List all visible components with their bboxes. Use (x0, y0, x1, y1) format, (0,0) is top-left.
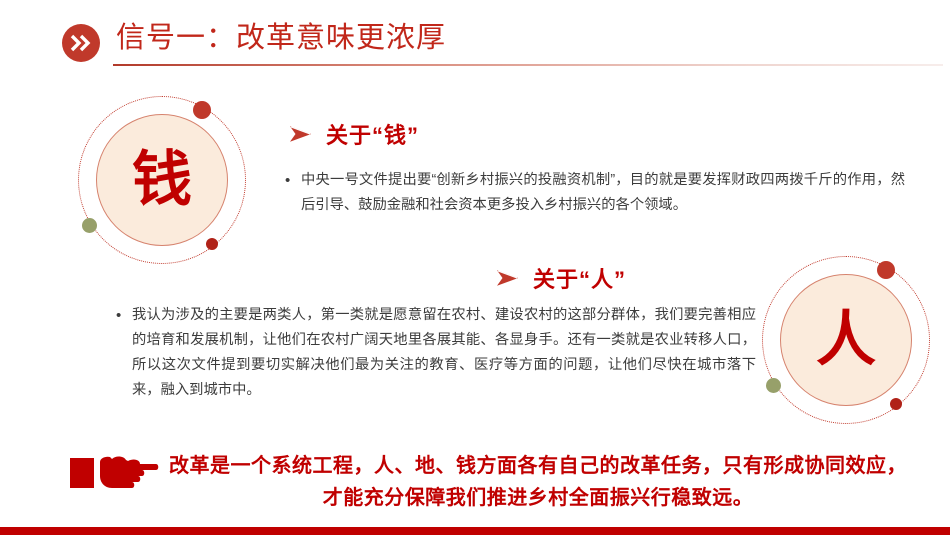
body-paragraph: 中央一号文件提出要“创新乡村振兴的投融资机制”，目的就是要发挥财政四两拨千斤的作… (301, 168, 905, 218)
page-title: 信号一：改革意味更浓厚 (116, 18, 446, 58)
circle-graphic-money: 钱 (78, 96, 246, 264)
accent-dot-red-large (877, 261, 895, 279)
circle-label-people: 人 (816, 310, 876, 370)
double-chevron-right-icon (62, 24, 100, 62)
bottom-accent-bar (0, 527, 950, 535)
accent-dot-darkred-small (890, 398, 902, 410)
circle-disc: 人 (780, 274, 912, 406)
slide-canvas: 信号一：改革意味更浓厚 钱 关于“钱” • 中央一号文件提出要“创新乡村振兴的投… (0, 0, 950, 535)
slide-header: 信号一：改革意味更浓厚 (0, 0, 950, 78)
section-heading-people: 关于“人” (497, 262, 626, 294)
arrow-bullet-icon (497, 269, 519, 287)
section-body-people: • 我认为涉及的主要是两类人，第一类就是愿意留在农村、建设农村的这部分群体，我们… (116, 303, 766, 403)
accent-dot-red-large (193, 101, 211, 119)
circle-graphic-people: 人 (762, 256, 930, 424)
section-heading-text: 关于“人” (533, 262, 626, 294)
section-body-money: • 中央一号文件提出要“创新乡村振兴的投融资机制”，目的就是要发挥财政四两拨千斤… (285, 168, 915, 218)
list-bullet: • (285, 168, 301, 193)
circle-disc: 钱 (96, 114, 228, 246)
arrow-bullet-icon (290, 125, 312, 143)
pointing-hand-icon (68, 452, 160, 496)
slide-footer: 改革是一个系统工程，人、地、钱方面各有自己的改革任务，只有形成协同效应，才能充分… (0, 444, 950, 524)
accent-dot-olive (766, 378, 781, 393)
circle-label-money: 钱 (132, 150, 192, 210)
list-bullet: • (116, 303, 132, 328)
header-divider (113, 64, 943, 66)
section-heading-money: 关于“钱” (290, 118, 419, 150)
accent-dot-darkred-small (206, 238, 218, 250)
body-paragraph: 我认为涉及的主要是两类人，第一类就是愿意留在农村、建设农村的这部分群体，我们要完… (132, 303, 756, 403)
section-heading-text: 关于“钱” (326, 118, 419, 150)
accent-dot-olive (82, 218, 97, 233)
footer-statement: 改革是一个系统工程，人、地、钱方面各有自己的改革任务，只有形成协同效应，才能充分… (168, 450, 908, 514)
